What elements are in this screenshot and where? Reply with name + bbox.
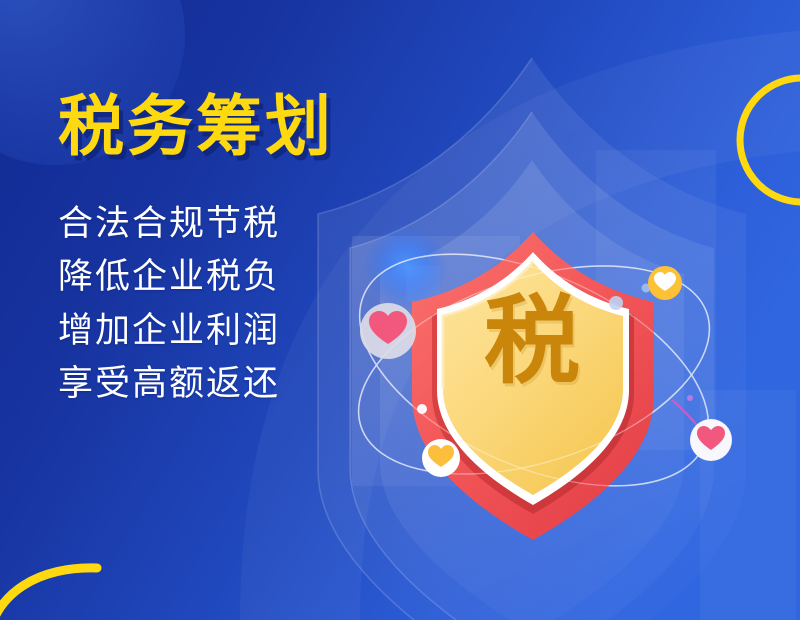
heart-badge-right	[690, 419, 732, 461]
dot-small-white	[417, 404, 427, 414]
dot-pale-blue	[609, 296, 623, 310]
benefit-list: 合法合规节税 降低企业税负 增加企业利润 享受高额返还	[58, 197, 398, 410]
benefit-item-2: 降低企业税负	[58, 250, 398, 303]
copy-block: 税务筹划 合法合规节税 降低企业税负 增加企业利润 享受高额返还	[58, 92, 398, 410]
dot-tiny-violet	[687, 395, 693, 401]
benefit-item-3: 增加企业利润	[58, 304, 398, 357]
heart-badge-bottom-left	[422, 439, 460, 477]
benefit-item-4: 享受高额返还	[58, 357, 398, 410]
benefit-item-1: 合法合规节税	[58, 197, 398, 250]
tax-planning-banner: 税 税务筹划 合法合规节税 降低企业税负 增加企业利润 享受高额返还	[0, 0, 800, 620]
heart-badge-top-right	[648, 266, 682, 300]
page-title: 税务筹划	[58, 92, 398, 161]
